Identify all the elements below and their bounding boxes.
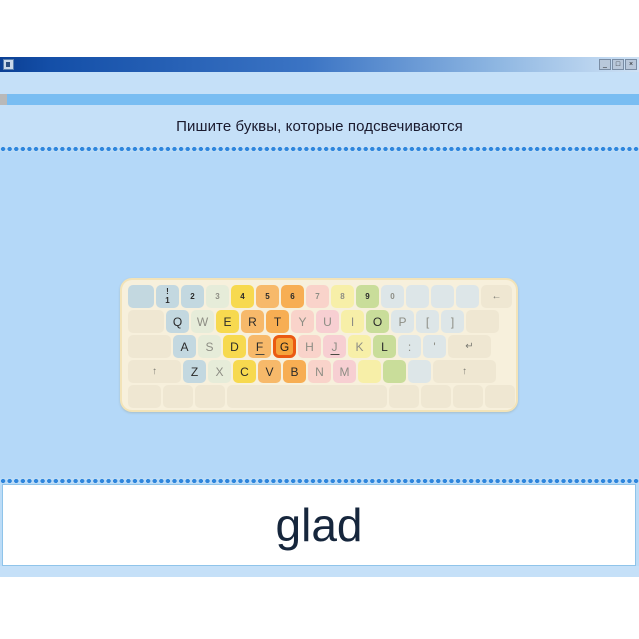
key-p[interactable]: P	[391, 310, 414, 333]
key-j[interactable]: J	[323, 335, 346, 358]
key-c[interactable]: C	[233, 360, 256, 383]
key-blank[interactable]	[421, 385, 451, 408]
key-v[interactable]: V	[258, 360, 281, 383]
key-blank[interactable]	[128, 335, 171, 358]
target-word: glad	[276, 498, 363, 552]
key-8[interactable]: 8	[331, 285, 354, 308]
key-0[interactable]: 0	[381, 285, 404, 308]
keyboard-row-home-row: ASDFGHJKL:'↵	[128, 335, 510, 358]
key-m[interactable]: M	[333, 360, 356, 383]
keyboard-row-qwerty-row: QWERTYUIOP[]	[128, 310, 510, 333]
key-x[interactable]: X	[208, 360, 231, 383]
key-b[interactable]: B	[283, 360, 306, 383]
key-s[interactable]: S	[198, 335, 221, 358]
application-root: _ □ × Пишите буквы, которые подсвечивают…	[0, 0, 639, 639]
key-blank[interactable]	[389, 385, 419, 408]
client-top-band	[0, 72, 639, 94]
key-blank[interactable]	[456, 285, 479, 308]
virtual-keyboard[interactable]: !1234567890←QWERTYUIOP[]ASDFGHJKL:'↵↑ZXC…	[120, 278, 518, 412]
key-9[interactable]: 9	[356, 285, 379, 308]
keyboard-row-bottom-letter-row: ↑ZXCVBNM↑	[128, 360, 510, 383]
key-y[interactable]: Y	[291, 310, 314, 333]
ribbon-left-cap	[0, 94, 7, 105]
window-title-bar[interactable]: _ □ ×	[0, 57, 639, 72]
app-window-icon	[3, 59, 14, 70]
key-blank[interactable]	[408, 360, 431, 383]
key-2[interactable]: 2	[181, 285, 204, 308]
key-blank[interactable]	[453, 385, 483, 408]
instruction-banner: Пишите буквы, которые подсвечиваются	[0, 105, 639, 148]
key-l[interactable]: L	[373, 335, 396, 358]
key-7[interactable]: 7	[306, 285, 329, 308]
home-row-marker	[255, 354, 264, 356]
key-z[interactable]: Z	[183, 360, 206, 383]
page-top-margin	[0, 0, 639, 57]
key-enter[interactable]: ↵	[448, 335, 491, 358]
key-i[interactable]: I	[341, 310, 364, 333]
key-q[interactable]: Q	[166, 310, 189, 333]
key-blank[interactable]	[431, 285, 454, 308]
instruction-text: Пишите буквы, которые подсвечиваются	[176, 118, 463, 135]
window-client-area: Пишите буквы, которые подсвечиваются !12…	[0, 72, 639, 583]
key-shift-left[interactable]: ↑	[128, 360, 181, 383]
key-letter-dim[interactable]: [	[416, 310, 439, 333]
keyboard-row-number-row: !1234567890←	[128, 285, 510, 308]
minimize-button[interactable]: _	[599, 59, 611, 70]
home-row-marker	[330, 354, 339, 356]
key-r[interactable]: R	[241, 310, 264, 333]
key-blank[interactable]	[195, 385, 225, 408]
key-letter-dim[interactable]: '	[423, 335, 446, 358]
window-controls[interactable]: _ □ ×	[599, 59, 637, 70]
key-e[interactable]: E	[216, 310, 239, 333]
key-t[interactable]: T	[266, 310, 289, 333]
key-5[interactable]: 5	[256, 285, 279, 308]
key-blank[interactable]	[128, 285, 154, 308]
close-button[interactable]: ×	[625, 59, 637, 70]
key-blank[interactable]	[358, 360, 381, 383]
key-letter-dim[interactable]: ]	[441, 310, 464, 333]
key-k[interactable]: K	[348, 335, 371, 358]
key-shift-right[interactable]: ↑	[433, 360, 496, 383]
key-blank[interactable]	[163, 385, 193, 408]
key-blank[interactable]	[466, 310, 499, 333]
key-blank[interactable]	[128, 385, 161, 408]
key-a[interactable]: A	[173, 335, 196, 358]
key-blank[interactable]	[383, 360, 406, 383]
key-blank[interactable]	[406, 285, 429, 308]
key-blank[interactable]	[128, 310, 164, 333]
keyboard-row-space-row	[128, 385, 510, 408]
key-space[interactable]	[227, 385, 387, 408]
keyboard-stage: !1234567890←QWERTYUIOP[]ASDFGHJKL:'↵↑ZXC…	[0, 152, 639, 478]
header-ribbon	[0, 94, 639, 105]
key-d[interactable]: D	[223, 335, 246, 358]
key-1[interactable]: !1	[156, 285, 179, 308]
key-n[interactable]: N	[308, 360, 331, 383]
page-bottom-margin	[0, 577, 639, 639]
key-backspace[interactable]: ←	[481, 285, 512, 308]
key-u[interactable]: U	[316, 310, 339, 333]
key-h[interactable]: H	[298, 335, 321, 358]
answer-panel[interactable]: glad	[2, 484, 636, 566]
key-3[interactable]: 3	[206, 285, 229, 308]
key-o[interactable]: O	[366, 310, 389, 333]
key-letter-dim[interactable]: :	[398, 335, 421, 358]
key-g[interactable]: G	[273, 335, 296, 358]
key-f[interactable]: F	[248, 335, 271, 358]
maximize-button[interactable]: □	[612, 59, 624, 70]
key-blank[interactable]	[485, 385, 515, 408]
key-6[interactable]: 6	[281, 285, 304, 308]
key-w[interactable]: W	[191, 310, 214, 333]
key-4[interactable]: 4	[231, 285, 254, 308]
